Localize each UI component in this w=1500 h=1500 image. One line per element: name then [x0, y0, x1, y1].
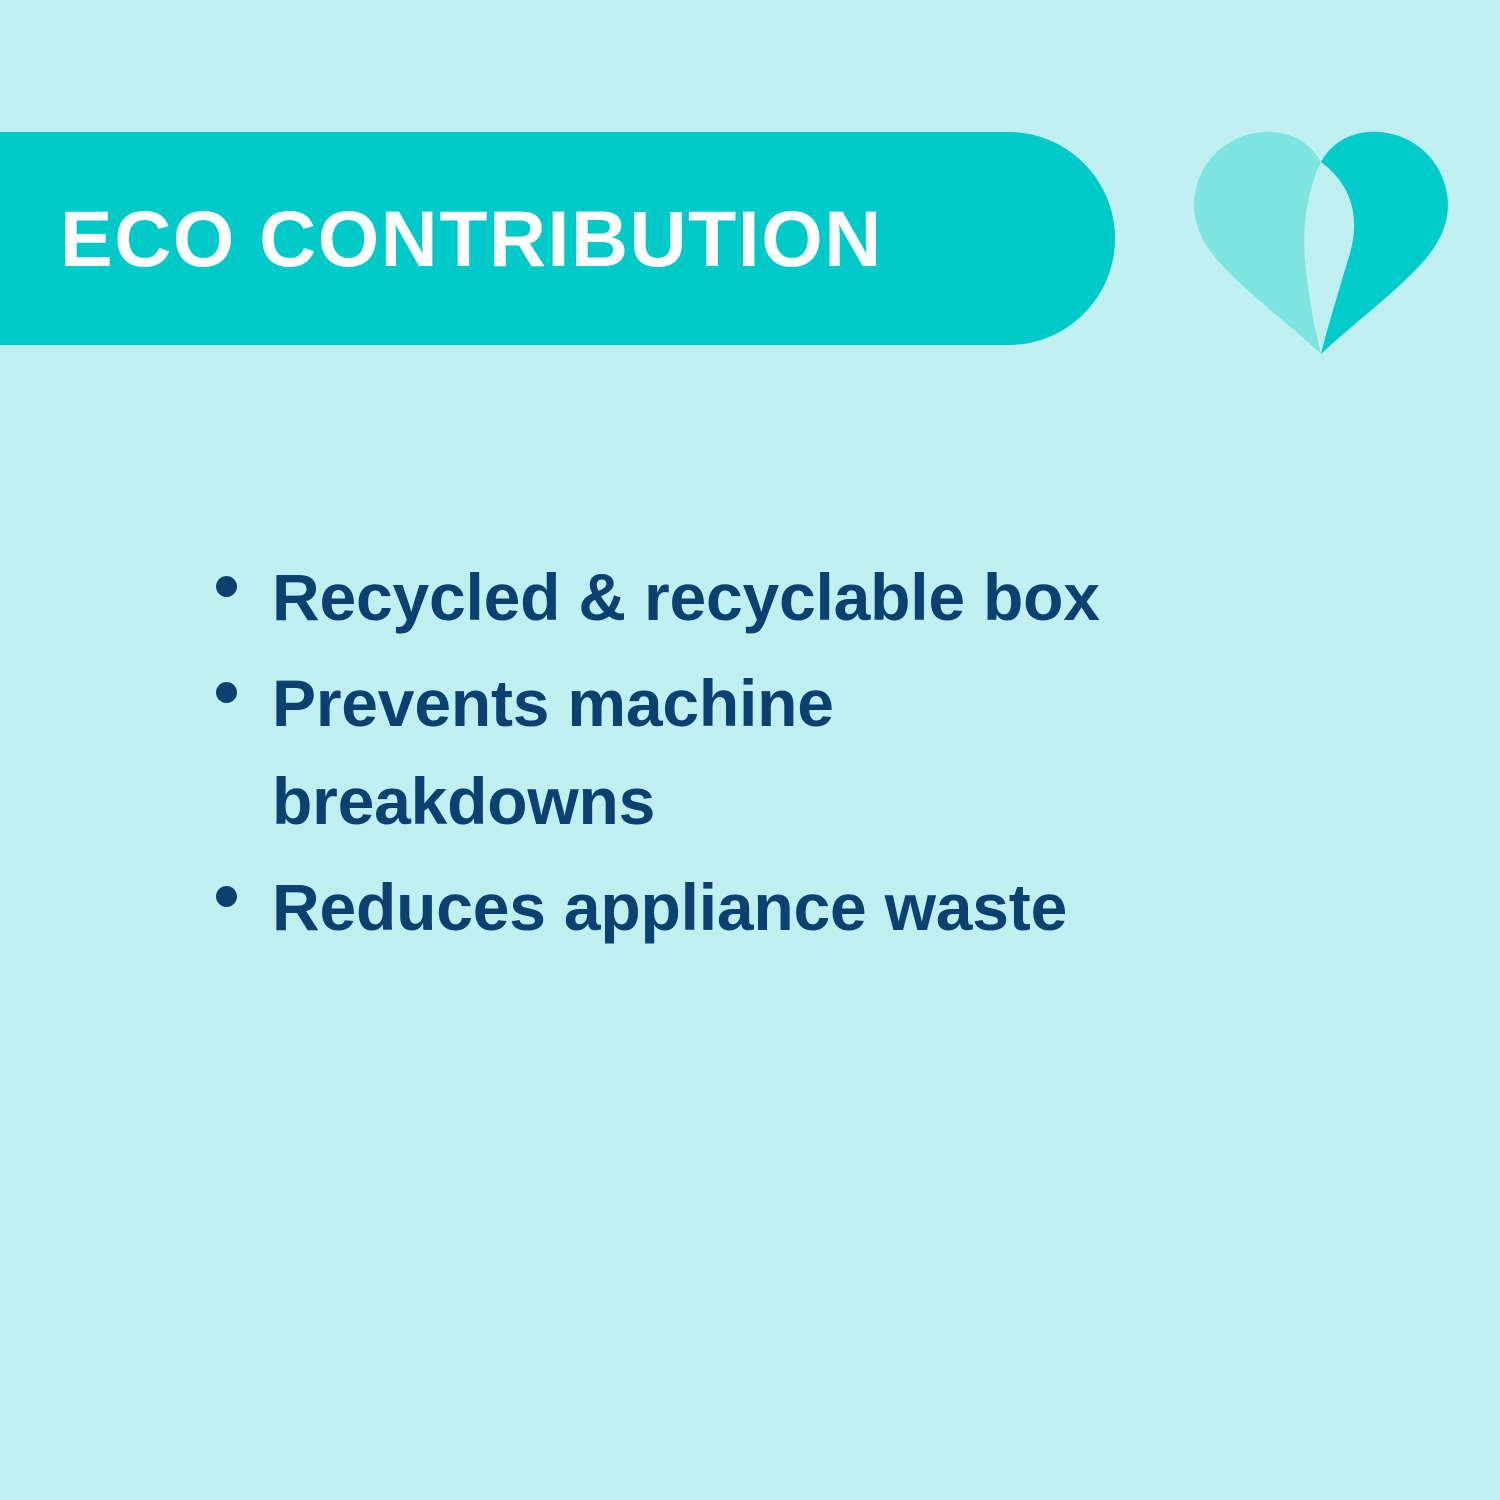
- heart-left-lobe: [1194, 132, 1321, 354]
- bullet-dot-icon: [216, 576, 237, 597]
- list-item: Prevents machine breakdowns: [216, 654, 1276, 850]
- page-title: ECO CONTRIBUTION: [60, 199, 883, 278]
- list-item-label: Recycled & recyclable box: [272, 548, 1276, 646]
- list-item-label: Reduces appliance waste: [272, 858, 1276, 956]
- heart-right-lobe: [1321, 132, 1448, 354]
- header-banner: ECO CONTRIBUTION: [0, 132, 1115, 345]
- list-item: Reduces appliance waste: [216, 858, 1276, 956]
- bullet-dot-icon: [216, 886, 237, 907]
- list-item-label: Prevents machine breakdowns: [272, 654, 912, 850]
- bullet-dot-icon: [216, 682, 237, 703]
- benefits-list: Recycled & recyclable box Prevents machi…: [216, 548, 1276, 956]
- heart-icon: [1190, 126, 1452, 356]
- list-item: Recycled & recyclable box: [216, 548, 1276, 646]
- eco-contribution-card: ECO CONTRIBUTION Recycled & recyclable b…: [0, 0, 1500, 1500]
